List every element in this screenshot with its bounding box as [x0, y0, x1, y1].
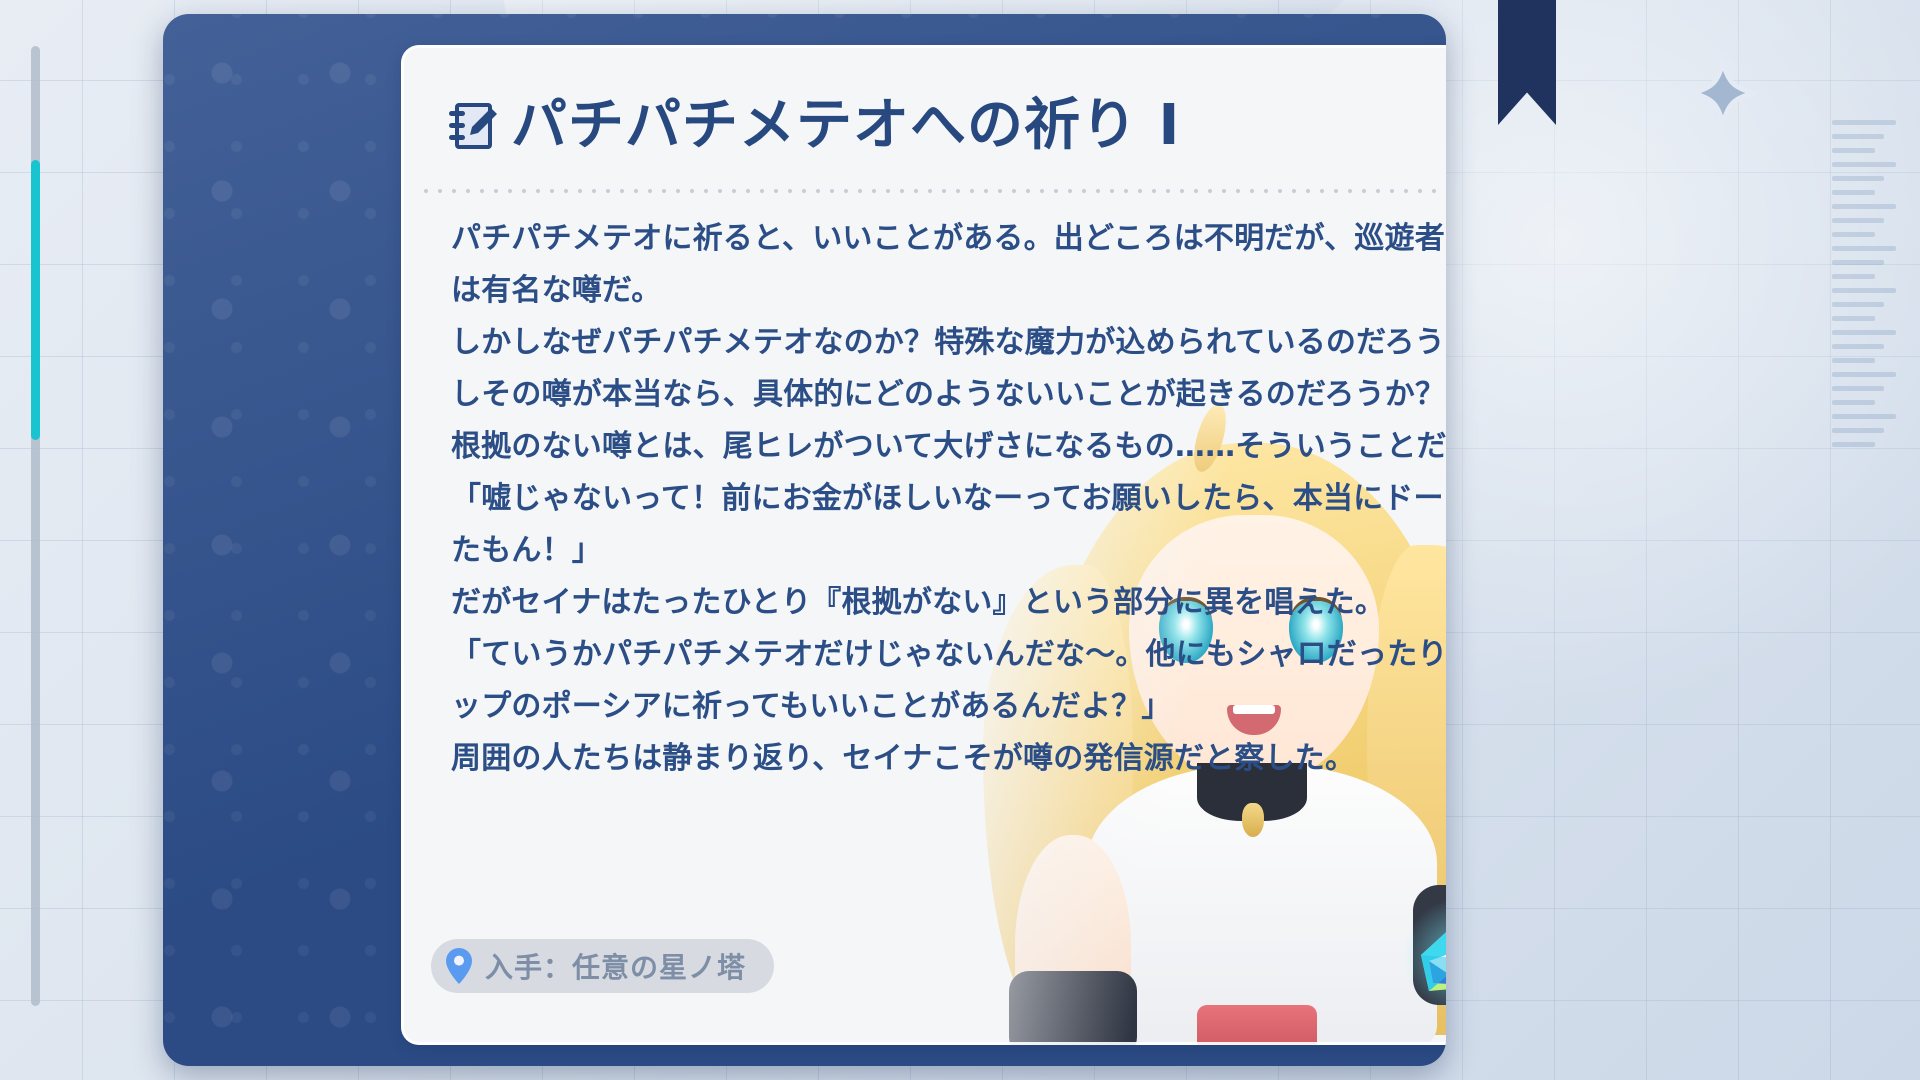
story-body-text: パチパチメテオに祈ると、いいことがある。出どころは不明だが、巡遊者の間では有名な… — [451, 213, 1446, 785]
four-point-star-icon — [1690, 60, 1756, 126]
source-label: 入手：任意の星ノ塔 — [485, 946, 746, 986]
crystal-gem-icon — [1415, 913, 1446, 999]
story-card: パチパチメテオへの祈り Ⅰ パチパチメテオに祈ると、いいことがある。出どころは不… — [401, 45, 1446, 1045]
page-title: パチパチメテオへの祈り Ⅰ — [511, 98, 1180, 154]
notebook-edit-icon — [445, 100, 497, 152]
header-divider — [419, 189, 1446, 193]
scrollbar-thumb[interactable] — [31, 160, 40, 440]
app-root: ロイヤルソード04 — [0, 0, 1920, 1080]
card-header: パチパチメテオへの祈り Ⅰ — [445, 83, 1446, 169]
dialog-frame: パチパチメテオへの祈り Ⅰ パチパチメテオに祈ると、いいことがある。出どころは不… — [163, 14, 1446, 1066]
source-badge: 入手：任意の星ノ塔 — [431, 939, 774, 993]
reward-item[interactable]: x10 — [1415, 913, 1446, 1009]
map-pin-icon — [445, 948, 473, 984]
